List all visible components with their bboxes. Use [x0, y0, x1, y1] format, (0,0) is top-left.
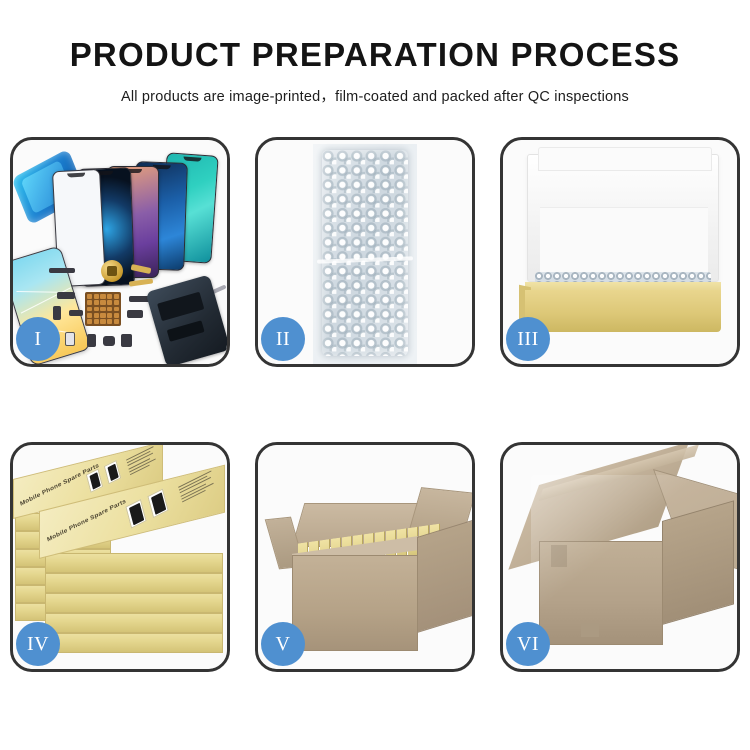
retail-box: [45, 613, 223, 633]
retail-box: [45, 553, 223, 573]
component-part: [121, 334, 132, 347]
step-badge-6: VI: [506, 622, 550, 666]
component-part: [57, 292, 75, 299]
carton-right-side: [417, 519, 472, 633]
product-preparation-infographic: PRODUCT PREPARATION PROCESS All products…: [0, 0, 750, 750]
step-badge-2: II: [261, 317, 305, 361]
header: PRODUCT PREPARATION PROCESS All products…: [0, 0, 750, 106]
inner-box-front: [525, 290, 721, 332]
step-badge-1: I: [16, 317, 60, 361]
step-panel-5: V: [255, 442, 475, 672]
component-part: [53, 306, 61, 320]
step-badge-5: V: [261, 622, 305, 666]
box-phone-thumbnail: [147, 489, 168, 519]
page-title: PRODUCT PREPARATION PROCESS: [0, 36, 750, 74]
step-panel-2: II: [255, 137, 475, 367]
box-phone-thumbnail: [125, 499, 146, 529]
component-part: [127, 310, 143, 318]
page-subtitle: All products are image-printed，film-coat…: [0, 85, 750, 106]
sealed-carton-right-side: [662, 500, 734, 625]
step-panel-3: III: [500, 137, 740, 367]
component-part: [65, 332, 75, 346]
box-lid-inner-panel: [540, 207, 708, 277]
carton-handle-slot: [581, 623, 599, 637]
box-spec-lines: [126, 445, 160, 477]
step-badge-4: IV: [16, 622, 60, 666]
box-spec-lines: [178, 470, 218, 505]
retail-box: [45, 573, 223, 593]
step-panel-6: VI: [500, 442, 740, 672]
white-box-lid: [527, 154, 719, 282]
step-badge-3: III: [506, 317, 550, 361]
step-panel-4: Mobile Phone Spare Parts: [10, 442, 230, 672]
carton-handle-slot: [551, 545, 567, 567]
steps-grid: I II III: [10, 137, 740, 672]
retail-box: [45, 633, 223, 653]
retail-box: [45, 593, 223, 613]
component-part: [87, 334, 96, 347]
component-part: [69, 310, 83, 316]
box-phone-thumbnail: [86, 468, 103, 492]
box-phone-thumbnail: [104, 460, 121, 484]
carton-front-face: [292, 555, 418, 651]
component-part: [49, 268, 75, 273]
bubble-wrap-icon: [322, 150, 408, 356]
component-part: [103, 336, 115, 346]
vibration-motor-icon: [101, 260, 123, 282]
step-panel-1: I: [10, 137, 230, 367]
chip-array-icon: [85, 292, 121, 326]
